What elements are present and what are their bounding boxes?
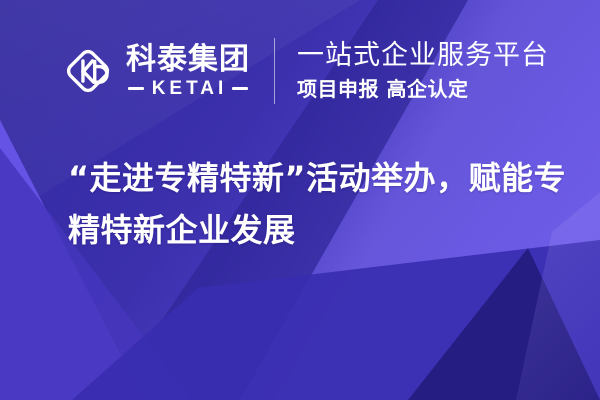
logo-company-name-cn: 科泰集团 bbox=[126, 44, 250, 76]
promo-banner: 科泰集团 KETAI 一站式企业服务平台 项目申报 高企认定 “走进专精特新”活… bbox=[0, 0, 600, 400]
logo-company-name-en: KETAI bbox=[144, 79, 233, 99]
slogan-secondary: 项目申报 高企认定 bbox=[297, 76, 549, 102]
slogan-primary: 一站式企业服务平台 bbox=[297, 40, 549, 72]
company-logo: 科泰集团 KETAI bbox=[60, 43, 250, 99]
banner-headline: “走进专精特新”活动举办，赋能专精特新企业发展 bbox=[68, 152, 568, 256]
logo-english-row: KETAI bbox=[126, 79, 250, 99]
logo-dash-left-icon bbox=[128, 87, 144, 90]
banner-header: 科泰集团 KETAI 一站式企业服务平台 项目申报 高企认定 bbox=[60, 38, 549, 104]
slogan-block: 一站式企业服务平台 项目申报 高企认定 bbox=[297, 40, 549, 102]
logo-dash-right-icon bbox=[232, 87, 248, 90]
header-divider bbox=[274, 38, 275, 104]
ketai-diamond-monogram-icon bbox=[60, 43, 116, 99]
logo-wordmark: 科泰集团 KETAI bbox=[126, 44, 250, 99]
